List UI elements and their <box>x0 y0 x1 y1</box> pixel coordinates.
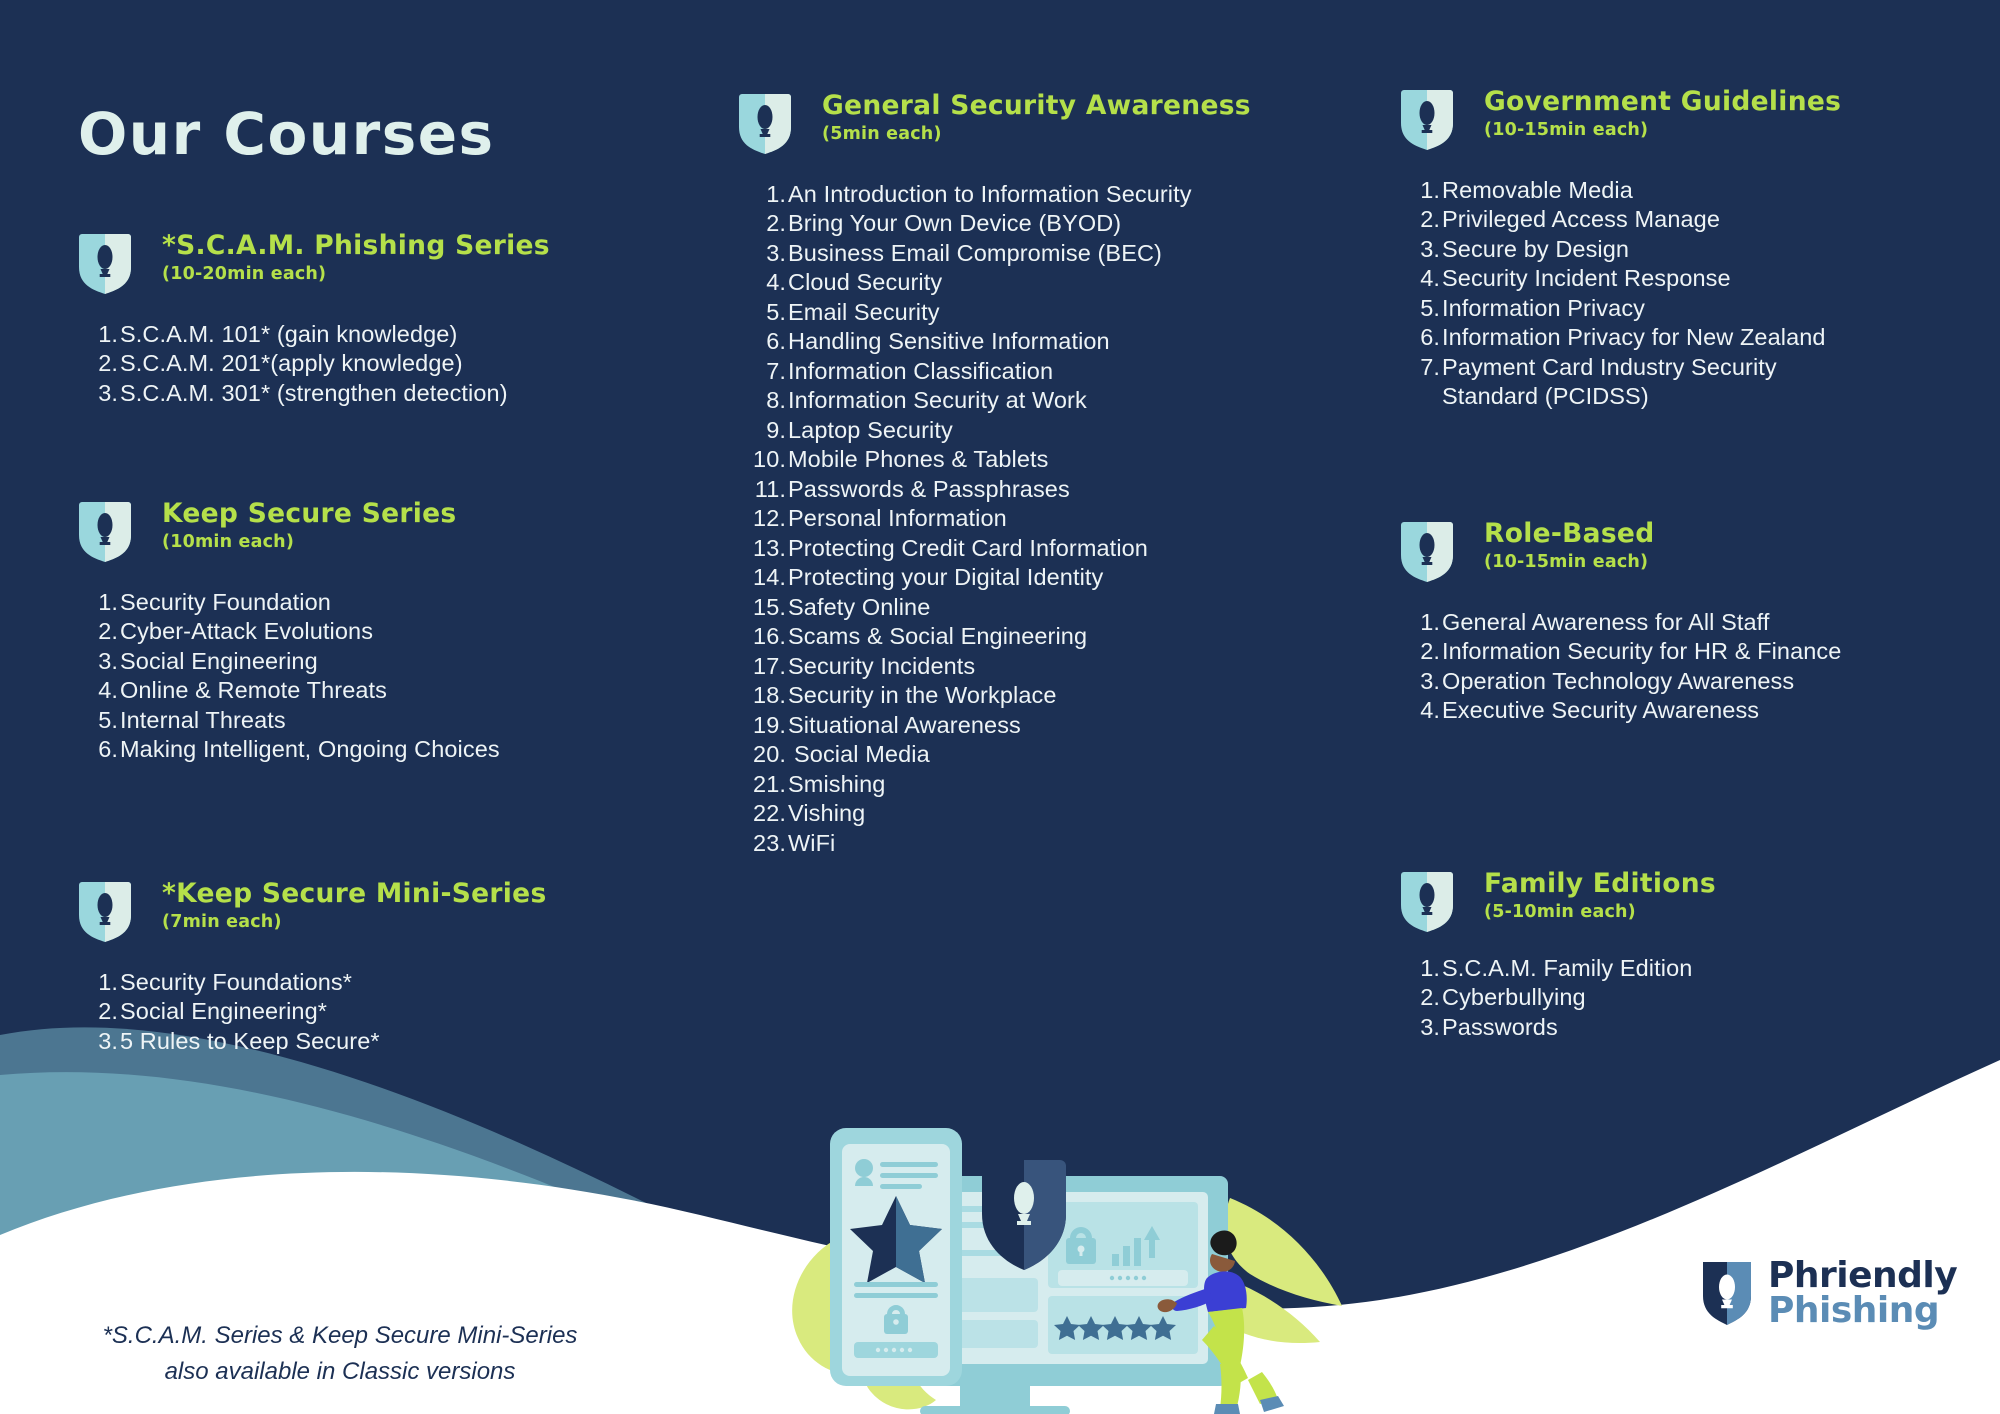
section-header: Family Editions (5-10min each) <box>1400 870 1960 936</box>
course-list: 1.An Introduction to Information Securit… <box>738 180 1358 858</box>
course-list: 1.Security Foundations* 2.Social Enginee… <box>78 968 678 1056</box>
course-list: 1.Security Foundation 2.Cyber-Attack Evo… <box>78 588 678 765</box>
list-item[interactable]: 3.Business Email Compromise (BEC) <box>738 239 1358 268</box>
list-item[interactable]: 2.Cyberbullying <box>1400 983 1960 1012</box>
shield-fish-icon <box>78 880 132 942</box>
list-item[interactable]: 3.Secure by Design <box>1400 235 1960 264</box>
list-item[interactable]: 6.Information Privacy for New Zealand <box>1400 323 1960 352</box>
list-item[interactable]: 15.Safety Online <box>738 593 1358 622</box>
logo-wordmark: Phriendly Phishing <box>1768 1258 1957 1329</box>
list-item[interactable]: 1.Security Foundations* <box>78 968 678 997</box>
footnote: *S.C.A.M. Series & Keep Secure Mini-Seri… <box>70 1318 610 1391</box>
shield-fish-icon <box>738 92 792 154</box>
section-title: Role-Based <box>1484 520 1960 548</box>
list-item[interactable]: 1.An Introduction to Information Securit… <box>738 180 1358 209</box>
logo-word-phishing: Phishing <box>1768 1293 1957 1328</box>
list-item[interactable]: 19.Situational Awareness <box>738 711 1358 740</box>
list-item[interactable]: 13.Protecting Credit Card Information <box>738 534 1358 563</box>
section-subtitle: (5-10min each) <box>1484 902 1960 922</box>
list-item[interactable]: 4.Online & Remote Threats <box>78 676 678 705</box>
list-item[interactable]: 23.WiFi <box>738 829 1358 858</box>
footnote-line-1: *S.C.A.M. Series & Keep Secure Mini-Seri… <box>70 1318 610 1354</box>
shield-fish-icon <box>78 500 132 562</box>
section-header: Role-Based (10-15min each) <box>1400 520 1960 586</box>
list-item[interactable]: 7.Payment Card Industry Security Standar… <box>1400 353 1960 412</box>
list-item[interactable]: 2.S.C.A.M. 201*(apply knowledge) <box>78 349 678 378</box>
list-item[interactable]: 2.Cyber-Attack Evolutions <box>78 617 678 646</box>
shield-fish-icon <box>1400 870 1454 932</box>
section-subtitle: (10-20min each) <box>162 264 678 284</box>
list-item[interactable]: 17.Security Incidents <box>738 652 1358 681</box>
course-list: 1.Removable Media 2.Privileged Access Ma… <box>1400 176 1960 412</box>
list-item[interactable]: 2.Social Engineering* <box>78 997 678 1026</box>
section-subtitle: (7min each) <box>162 912 678 932</box>
list-item[interactable]: 6.Handling Sensitive Information <box>738 327 1358 356</box>
section-family-editions: Family Editions (5-10min each) 1.S.C.A.M… <box>1400 870 1960 1042</box>
list-item[interactable]: 1.Security Foundation <box>78 588 678 617</box>
footnote-line-2: also available in Classic versions <box>70 1354 610 1390</box>
list-item[interactable]: 10.Mobile Phones & Tablets <box>738 445 1358 474</box>
list-item[interactable]: 21.Smishing <box>738 770 1358 799</box>
shield-fish-icon <box>1400 88 1454 150</box>
list-item[interactable]: 6.Making Intelligent, Ongoing Choices <box>78 735 678 764</box>
list-item[interactable]: 4.Cloud Security <box>738 268 1358 297</box>
list-item[interactable]: 5.Email Security <box>738 298 1358 327</box>
list-item[interactable]: 7.Information Classification <box>738 357 1358 386</box>
list-item[interactable]: 4.Security Incident Response <box>1400 264 1960 293</box>
brand-logo[interactable]: Phriendly Phishing <box>1700 1258 1957 1329</box>
list-item[interactable]: 3.Social Engineering <box>78 647 678 676</box>
list-item[interactable]: 3.5 Rules to Keep Secure* <box>78 1027 678 1056</box>
list-item[interactable]: 3.Operation Technology Awareness <box>1400 667 1960 696</box>
section-title: General Security Awareness <box>822 92 1358 120</box>
section-title: *S.C.A.M. Phishing Series <box>162 232 678 260</box>
shield-fish-icon <box>1700 1261 1754 1325</box>
section-government-guidelines: Government Guidelines (10-15min each) 1.… <box>1400 88 1960 412</box>
section-scam-phishing-series: *S.C.A.M. Phishing Series (10-20min each… <box>78 232 678 408</box>
list-item[interactable]: 3.S.C.A.M. 301* (strengthen detection) <box>78 379 678 408</box>
section-title: Keep Secure Series <box>162 500 678 528</box>
logo-word-phriendly: Phriendly <box>1768 1258 1957 1293</box>
list-item[interactable]: 14.Protecting your Digital Identity <box>738 563 1358 592</box>
section-subtitle: (10-15min each) <box>1484 552 1960 572</box>
list-item[interactable]: 1.S.C.A.M. 101* (gain knowledge) <box>78 320 678 349</box>
section-title: *Keep Secure Mini-Series <box>162 880 678 908</box>
section-role-based: Role-Based (10-15min each) 1.General Awa… <box>1400 520 1960 726</box>
section-general-security-awareness: General Security Awareness (5min each) 1… <box>738 92 1358 858</box>
course-list: 1.S.C.A.M. Family Edition 2.Cyberbullyin… <box>1400 954 1960 1042</box>
shield-fish-icon <box>78 232 132 294</box>
list-item[interactable]: 20.Social Media <box>738 740 1358 769</box>
section-subtitle: (10-15min each) <box>1484 120 1960 140</box>
section-subtitle: (5min each) <box>822 124 1358 144</box>
page-title: Our Courses <box>78 100 495 168</box>
section-header: *Keep Secure Mini-Series (7min each) <box>78 880 678 946</box>
list-item[interactable]: 18.Security in the Workplace <box>738 681 1358 710</box>
section-title: Government Guidelines <box>1484 88 1960 116</box>
section-header: *S.C.A.M. Phishing Series (10-20min each… <box>78 232 678 298</box>
course-list: 1.S.C.A.M. 101* (gain knowledge) 2.S.C.A… <box>78 320 678 408</box>
section-subtitle: (10min each) <box>162 532 678 552</box>
list-item[interactable]: 22.Vishing <box>738 799 1358 828</box>
list-item[interactable]: 1.S.C.A.M. Family Edition <box>1400 954 1960 983</box>
section-header: General Security Awareness (5min each) <box>738 92 1358 158</box>
list-item[interactable]: 12.Personal Information <box>738 504 1358 533</box>
list-item[interactable]: 3.Passwords <box>1400 1013 1960 1042</box>
course-list: 1.General Awareness for All Staff 2.Info… <box>1400 608 1960 726</box>
section-keep-secure-mini-series: *Keep Secure Mini-Series (7min each) 1.S… <box>78 880 678 1056</box>
list-item[interactable]: 2.Bring Your Own Device (BYOD) <box>738 209 1358 238</box>
list-item[interactable]: 4.Executive Security Awareness <box>1400 696 1960 725</box>
list-item[interactable]: 1.Removable Media <box>1400 176 1960 205</box>
list-item[interactable]: 1.General Awareness for All Staff <box>1400 608 1960 637</box>
section-header: Government Guidelines (10-15min each) <box>1400 88 1960 154</box>
section-keep-secure-series: Keep Secure Series (10min each) 1.Securi… <box>78 500 678 765</box>
shield-fish-icon <box>1400 520 1454 582</box>
section-header: Keep Secure Series (10min each) <box>78 500 678 566</box>
list-item[interactable]: 2.Privileged Access Manage <box>1400 205 1960 234</box>
list-item[interactable]: 9.Laptop Security <box>738 416 1358 445</box>
list-item[interactable]: 11.Passwords & Passphrases <box>738 475 1358 504</box>
section-title: Family Editions <box>1484 870 1960 898</box>
list-item[interactable]: 8.Information Security at Work <box>738 386 1358 415</box>
list-item[interactable]: 5.Internal Threats <box>78 706 678 735</box>
list-item[interactable]: 2.Information Security for HR & Finance <box>1400 637 1960 666</box>
list-item[interactable]: 5.Information Privacy <box>1400 294 1960 323</box>
list-item[interactable]: 16.Scams & Social Engineering <box>738 622 1358 651</box>
